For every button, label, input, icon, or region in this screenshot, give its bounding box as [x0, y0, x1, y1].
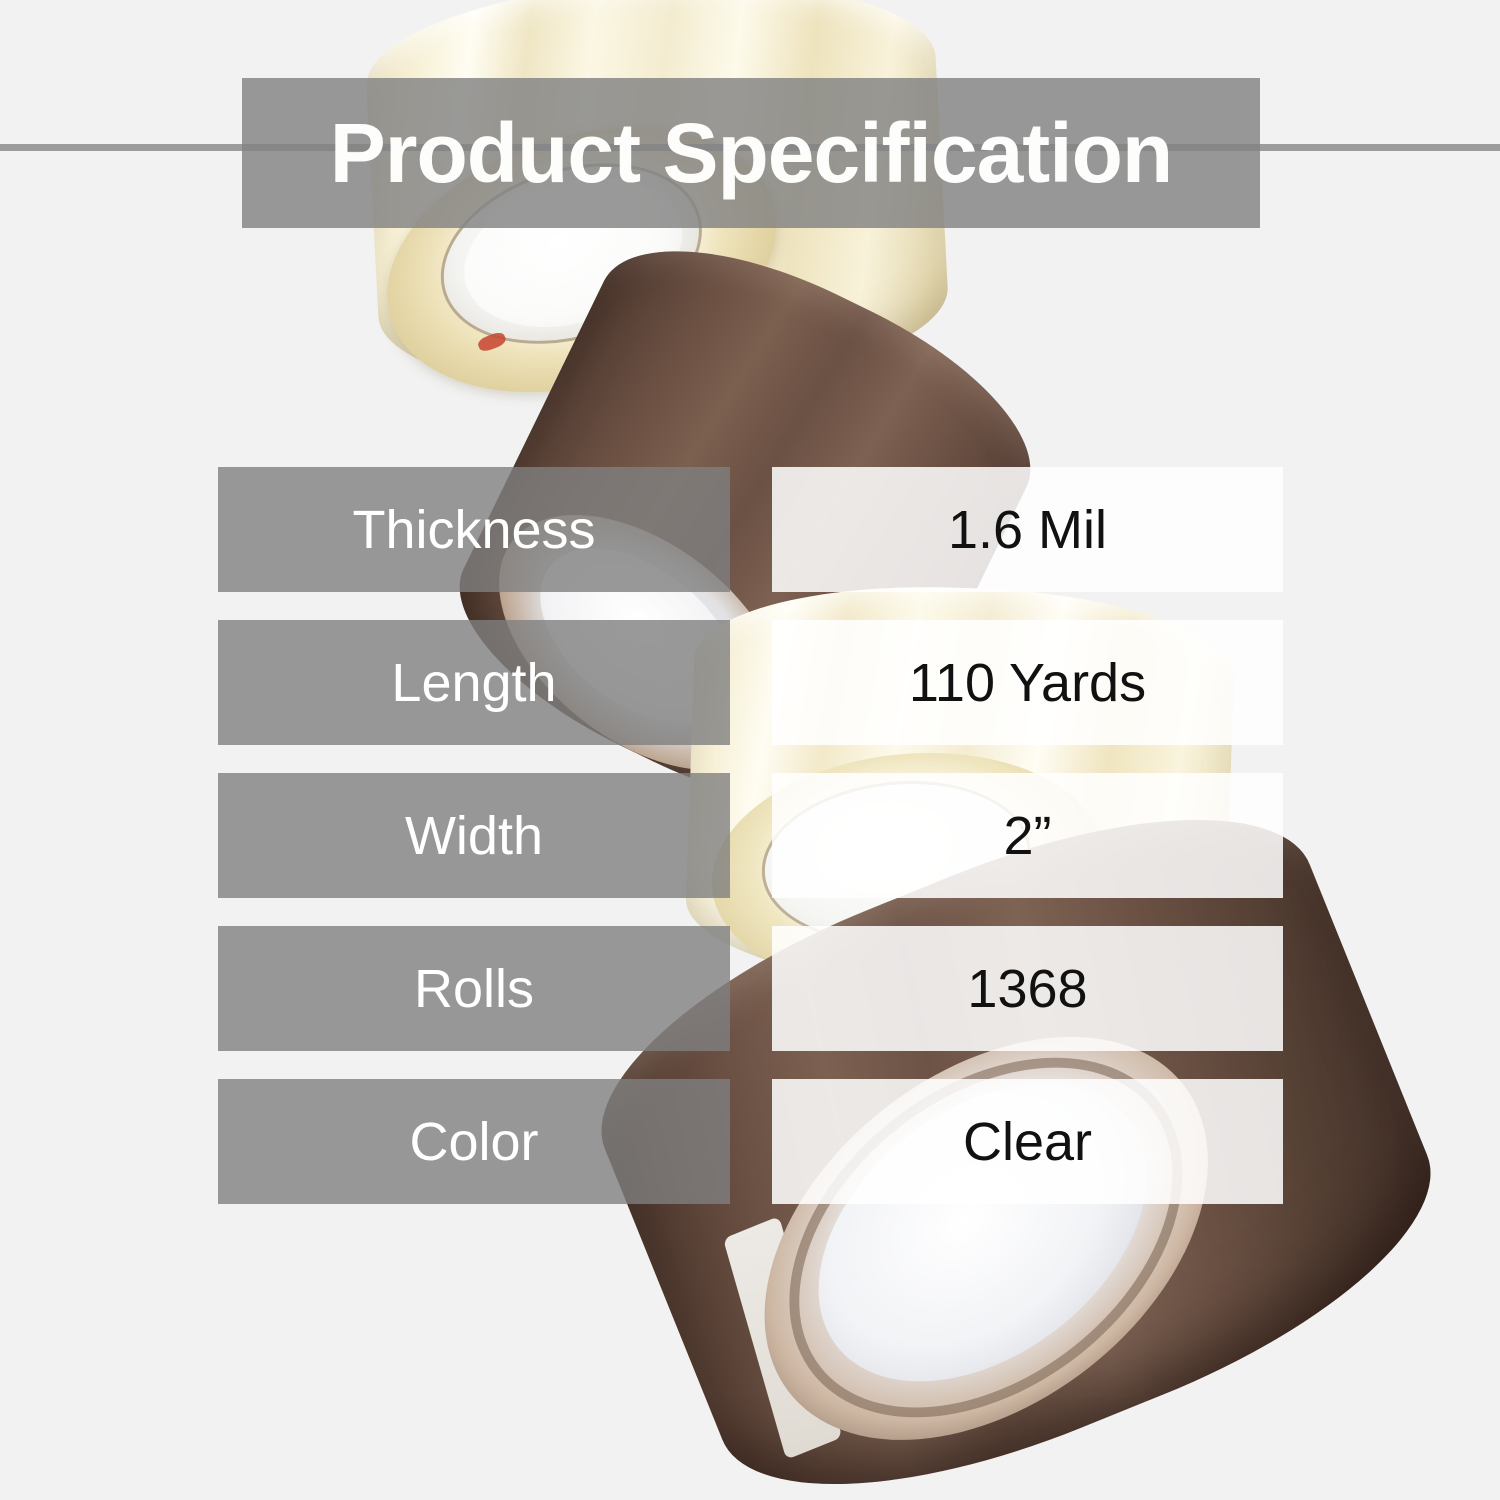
spec-label-thickness: Thickness	[218, 467, 730, 592]
table-row: Length 110 Yards	[218, 620, 1283, 745]
title-banner: Product Specification	[242, 78, 1260, 228]
specification-table: Thickness 1.6 Mil Length 110 Yards Width…	[218, 467, 1283, 1204]
table-row: Rolls 1368	[218, 926, 1283, 1051]
spec-value-rolls: 1368	[772, 926, 1283, 1051]
spec-label-length: Length	[218, 620, 730, 745]
spec-value-color: Clear	[772, 1079, 1283, 1204]
table-row: Width 2”	[218, 773, 1283, 898]
product-specification-card: Product Specification Thickness 1.6 Mil …	[0, 0, 1500, 1500]
spec-label-color: Color	[218, 1079, 730, 1204]
page-title: Product Specification	[330, 111, 1172, 195]
spec-label-rolls: Rolls	[218, 926, 730, 1051]
spec-value-width: 2”	[772, 773, 1283, 898]
table-row: Thickness 1.6 Mil	[218, 467, 1283, 592]
spec-label-width: Width	[218, 773, 730, 898]
table-row: Color Clear	[218, 1079, 1283, 1204]
spec-value-thickness: 1.6 Mil	[772, 467, 1283, 592]
spec-value-length: 110 Yards	[772, 620, 1283, 745]
